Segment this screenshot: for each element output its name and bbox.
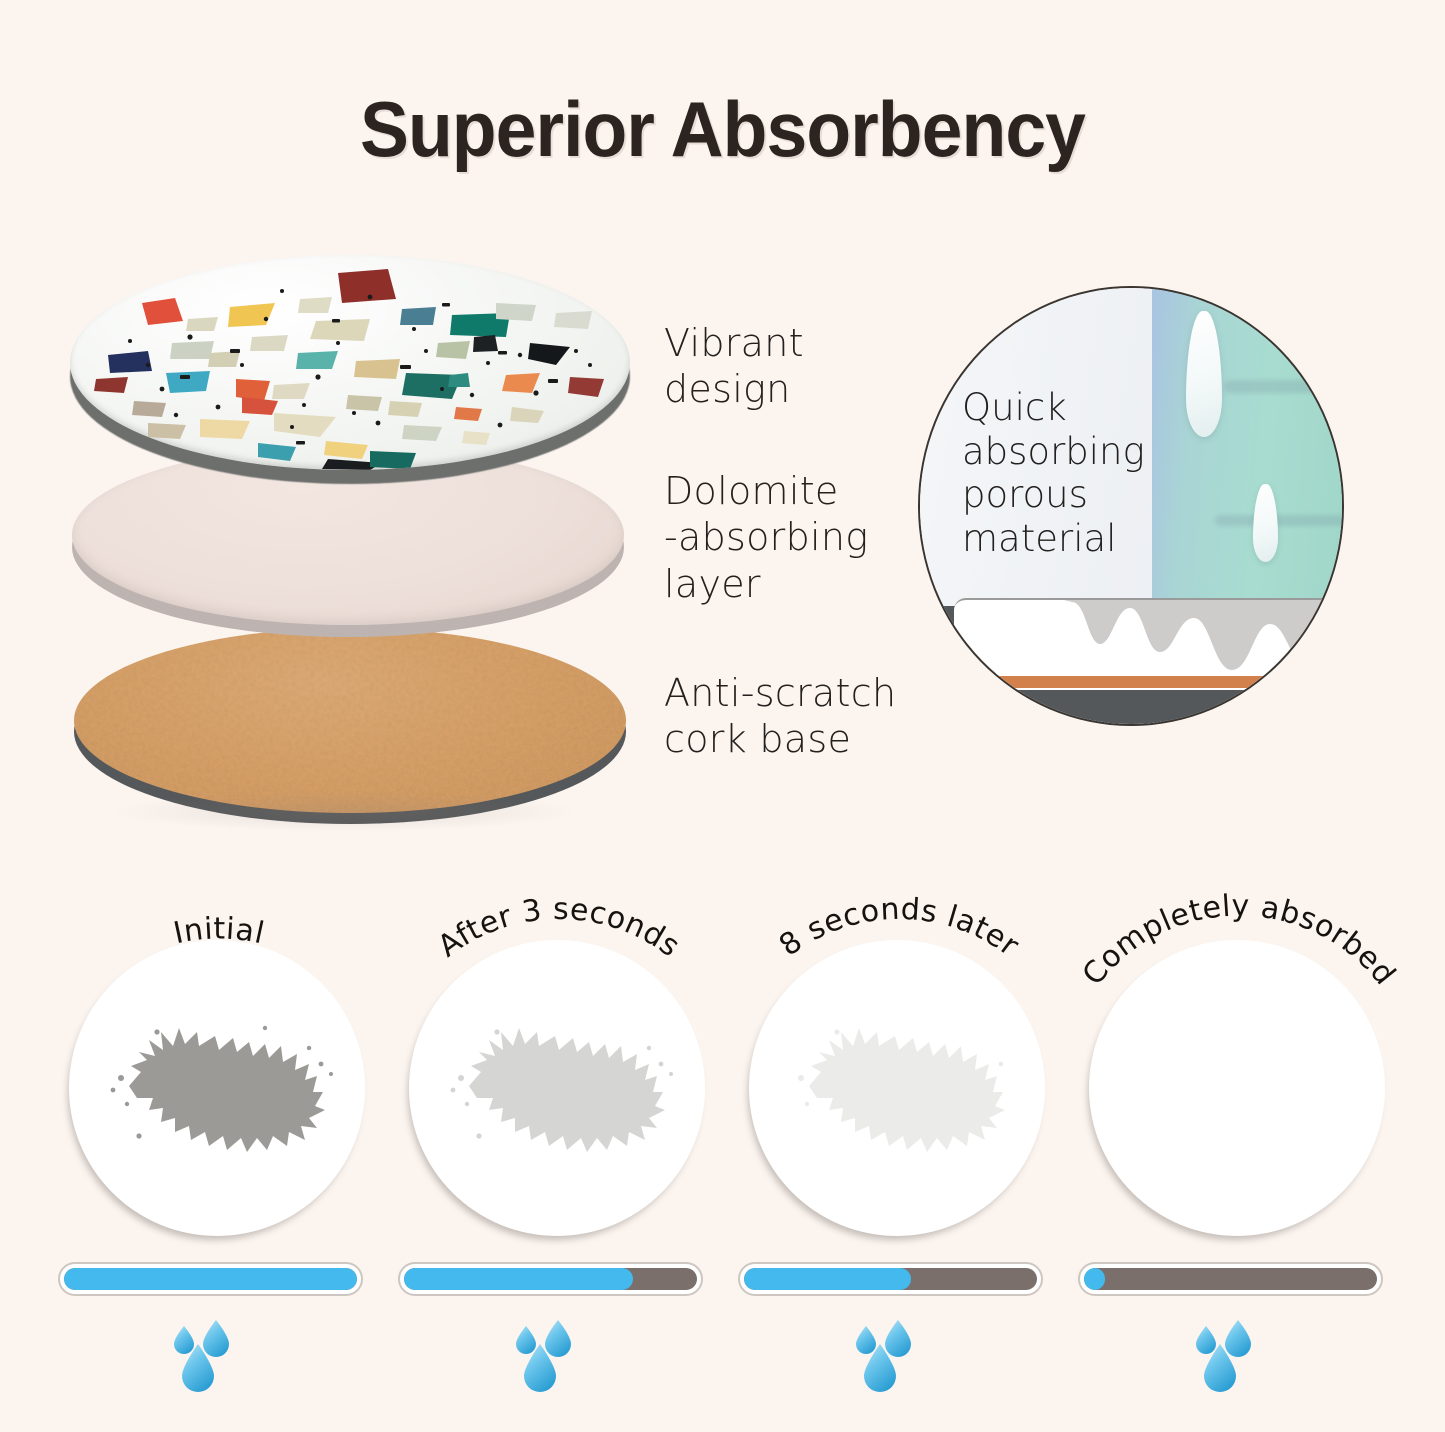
progress-fill xyxy=(744,1268,911,1290)
inset-caption: Quick absorbing porous material xyxy=(962,386,1145,561)
label-vibrant-design: Vibrant design xyxy=(664,320,804,413)
label-dolomite-layer: Dolomite -absorbing layer xyxy=(664,468,868,607)
absorption-step: After 3 seconds xyxy=(402,940,712,1236)
water-droplets-icon xyxy=(1192,1318,1312,1398)
inset-caption-line4: material xyxy=(962,517,1145,561)
coaster-sample xyxy=(69,940,365,1236)
cork-surface xyxy=(74,628,626,813)
liquid-stain xyxy=(409,940,705,1236)
label-dolomite-line3: layer xyxy=(664,561,868,607)
water-droplets-icon xyxy=(852,1318,972,1398)
terrazzo-surface xyxy=(70,255,630,470)
progress-track xyxy=(1084,1268,1377,1290)
inset-streak-1 xyxy=(1224,380,1344,393)
infographic-canvas: Superior Absorbency xyxy=(0,0,1445,1432)
terrazzo-top-layer xyxy=(70,255,630,470)
label-cork-line1: Anti-scratch xyxy=(664,670,896,716)
coaster-sample xyxy=(749,940,1045,1236)
progress-track xyxy=(64,1268,357,1290)
progress-fill xyxy=(64,1268,357,1290)
absorption-progress-bar[interactable] xyxy=(398,1262,703,1296)
absorption-progress-bar[interactable] xyxy=(1078,1262,1383,1296)
cork-base-layer xyxy=(74,628,626,813)
water-droplets-icon xyxy=(512,1318,632,1398)
stack-drop-shadow xyxy=(110,792,580,832)
label-dolomite-line2: -absorbing xyxy=(664,514,868,560)
label-vibrant-line2: design xyxy=(664,366,804,412)
progress-fill xyxy=(1084,1268,1105,1290)
water-droplets-icon xyxy=(170,1318,290,1398)
label-dolomite-line1: Dolomite xyxy=(664,468,868,514)
absorption-progress-bar[interactable] xyxy=(738,1262,1043,1296)
progress-track xyxy=(404,1268,697,1290)
inset-streak-2 xyxy=(1215,515,1344,526)
label-cork-line2: cork base xyxy=(664,716,896,762)
coaster-sample xyxy=(1089,940,1385,1236)
absorption-progress-bar[interactable] xyxy=(58,1262,363,1296)
label-vibrant-line1: Vibrant xyxy=(664,320,804,366)
porous-material-inset: Quick absorbing porous material xyxy=(918,286,1344,726)
cork-grain-texture xyxy=(74,628,626,813)
absorption-step: Completely absorbed xyxy=(1082,940,1392,1236)
inset-caption-line2: absorbing xyxy=(962,430,1145,474)
coaster-sample xyxy=(409,940,705,1236)
liquid-stain xyxy=(69,940,365,1236)
label-cork-base: Anti-scratch cork base xyxy=(664,670,896,763)
page-title: Superior Absorbency xyxy=(43,84,1401,175)
progress-track xyxy=(744,1268,1037,1290)
terrazzo-chips xyxy=(70,255,630,470)
inset-caption-line1: Quick xyxy=(962,386,1145,430)
liquid-stain xyxy=(749,940,1045,1236)
inset-caption-line3: porous xyxy=(962,473,1145,517)
absorption-step: Initial xyxy=(62,940,372,1236)
absorption-step: 8 seconds later xyxy=(742,940,1052,1236)
inset-cork-strip xyxy=(971,676,1309,688)
progress-fill xyxy=(404,1268,633,1290)
